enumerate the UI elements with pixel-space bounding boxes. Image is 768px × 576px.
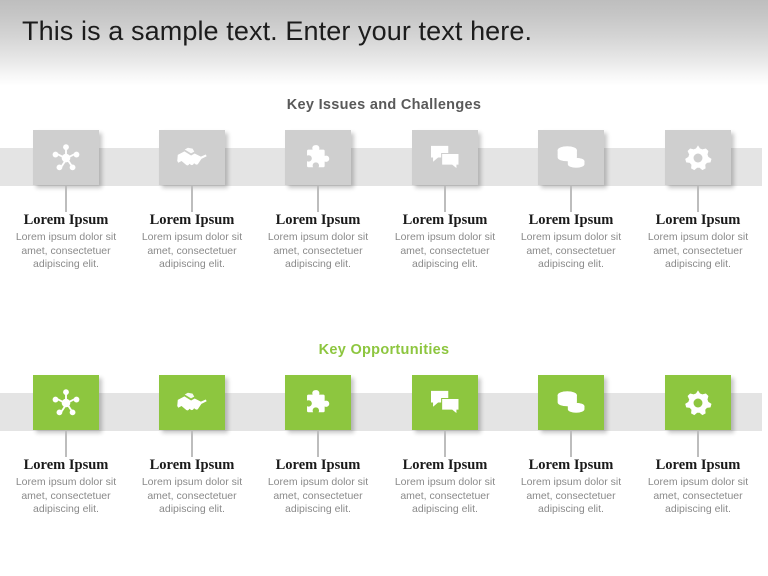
- issues-tile-row: [0, 130, 768, 188]
- connector-line: [697, 186, 699, 212]
- caption-title: Lorem Ipsum: [384, 457, 506, 473]
- connector-line: [317, 431, 319, 457]
- opportunities-tile-row: [0, 375, 768, 433]
- caption-body: Lorem ipsum dolor sit amet, consectetuer…: [131, 476, 253, 517]
- caption-body: Lorem ipsum dolor sit amet, consectetuer…: [510, 231, 632, 272]
- connector-line: [65, 186, 67, 212]
- caption-body: Lorem ipsum dolor sit amet, consectetuer…: [637, 476, 759, 517]
- icon-tile-gear[interactable]: [665, 375, 731, 430]
- caption-body: Lorem ipsum dolor sit amet, consectetuer…: [5, 476, 127, 517]
- section-header-issues: Key Issues and Challenges: [0, 97, 768, 113]
- caption-body: Lorem ipsum dolor sit amet, consectetuer…: [637, 231, 759, 272]
- caption-body: Lorem ipsum dolor sit amet, consectetuer…: [131, 231, 253, 272]
- caption-block: Lorem IpsumLorem ipsum dolor sit amet, c…: [5, 212, 127, 272]
- icon-tile-network-hub[interactable]: [33, 375, 99, 430]
- caption-block: Lorem IpsumLorem ipsum dolor sit amet, c…: [5, 457, 127, 517]
- caption-title: Lorem Ipsum: [5, 457, 127, 473]
- caption-title: Lorem Ipsum: [637, 457, 759, 473]
- network-hub-icon: [51, 388, 81, 418]
- page-title: This is a sample text. Enter your text h…: [22, 16, 532, 47]
- puzzle-piece-icon: [303, 388, 333, 418]
- caption-title: Lorem Ipsum: [5, 212, 127, 228]
- handshake-icon: [176, 143, 208, 173]
- caption-block: Lorem IpsumLorem ipsum dolor sit amet, c…: [131, 212, 253, 272]
- connector-line: [570, 431, 572, 457]
- caption-title: Lorem Ipsum: [257, 212, 379, 228]
- connector-line: [317, 186, 319, 212]
- caption-title: Lorem Ipsum: [131, 212, 253, 228]
- caption-title: Lorem Ipsum: [257, 457, 379, 473]
- caption-block: Lorem IpsumLorem ipsum dolor sit amet, c…: [131, 457, 253, 517]
- icon-tile-coins-stack[interactable]: [538, 130, 604, 185]
- icon-tile-handshake[interactable]: [159, 375, 225, 430]
- caption-block: Lorem IpsumLorem ipsum dolor sit amet, c…: [510, 457, 632, 517]
- caption-block: Lorem IpsumLorem ipsum dolor sit amet, c…: [384, 212, 506, 272]
- icon-tile-handshake[interactable]: [159, 130, 225, 185]
- connector-line: [697, 431, 699, 457]
- icon-tile-chat-bubbles[interactable]: [412, 130, 478, 185]
- caption-body: Lorem ipsum dolor sit amet, consectetuer…: [257, 231, 379, 272]
- caption-block: Lorem IpsumLorem ipsum dolor sit amet, c…: [510, 212, 632, 272]
- caption-body: Lorem ipsum dolor sit amet, consectetuer…: [384, 476, 506, 517]
- chat-bubbles-icon: [429, 144, 461, 172]
- caption-body: Lorem ipsum dolor sit amet, consectetuer…: [257, 476, 379, 517]
- caption-block: Lorem IpsumLorem ipsum dolor sit amet, c…: [384, 457, 506, 517]
- connector-line: [191, 431, 193, 457]
- connector-line: [191, 186, 193, 212]
- caption-title: Lorem Ipsum: [510, 212, 632, 228]
- caption-title: Lorem Ipsum: [637, 212, 759, 228]
- caption-block: Lorem IpsumLorem ipsum dolor sit amet, c…: [257, 457, 379, 517]
- icon-tile-coins-stack[interactable]: [538, 375, 604, 430]
- connector-line: [444, 431, 446, 457]
- caption-title: Lorem Ipsum: [131, 457, 253, 473]
- connector-line: [444, 186, 446, 212]
- connector-line: [570, 186, 572, 212]
- network-hub-icon: [51, 143, 81, 173]
- caption-body: Lorem ipsum dolor sit amet, consectetuer…: [510, 476, 632, 517]
- handshake-icon: [176, 388, 208, 418]
- caption-title: Lorem Ipsum: [510, 457, 632, 473]
- caption-block: Lorem IpsumLorem ipsum dolor sit amet, c…: [637, 457, 759, 517]
- coins-stack-icon: [555, 389, 587, 417]
- chat-bubbles-icon: [429, 389, 461, 417]
- puzzle-piece-icon: [303, 143, 333, 173]
- caption-body: Lorem ipsum dolor sit amet, consectetuer…: [5, 231, 127, 272]
- icon-tile-network-hub[interactable]: [33, 130, 99, 185]
- icon-tile-puzzle-piece[interactable]: [285, 375, 351, 430]
- section-header-opportunities: Key Opportunities: [0, 342, 768, 358]
- connector-line: [65, 431, 67, 457]
- coins-stack-icon: [555, 144, 587, 172]
- icon-tile-gear[interactable]: [665, 130, 731, 185]
- caption-body: Lorem ipsum dolor sit amet, consectetuer…: [384, 231, 506, 272]
- icon-tile-puzzle-piece[interactable]: [285, 130, 351, 185]
- gear-icon: [684, 389, 712, 417]
- caption-block: Lorem IpsumLorem ipsum dolor sit amet, c…: [257, 212, 379, 272]
- caption-title: Lorem Ipsum: [384, 212, 506, 228]
- icon-tile-chat-bubbles[interactable]: [412, 375, 478, 430]
- gear-icon: [684, 144, 712, 172]
- caption-block: Lorem IpsumLorem ipsum dolor sit amet, c…: [637, 212, 759, 272]
